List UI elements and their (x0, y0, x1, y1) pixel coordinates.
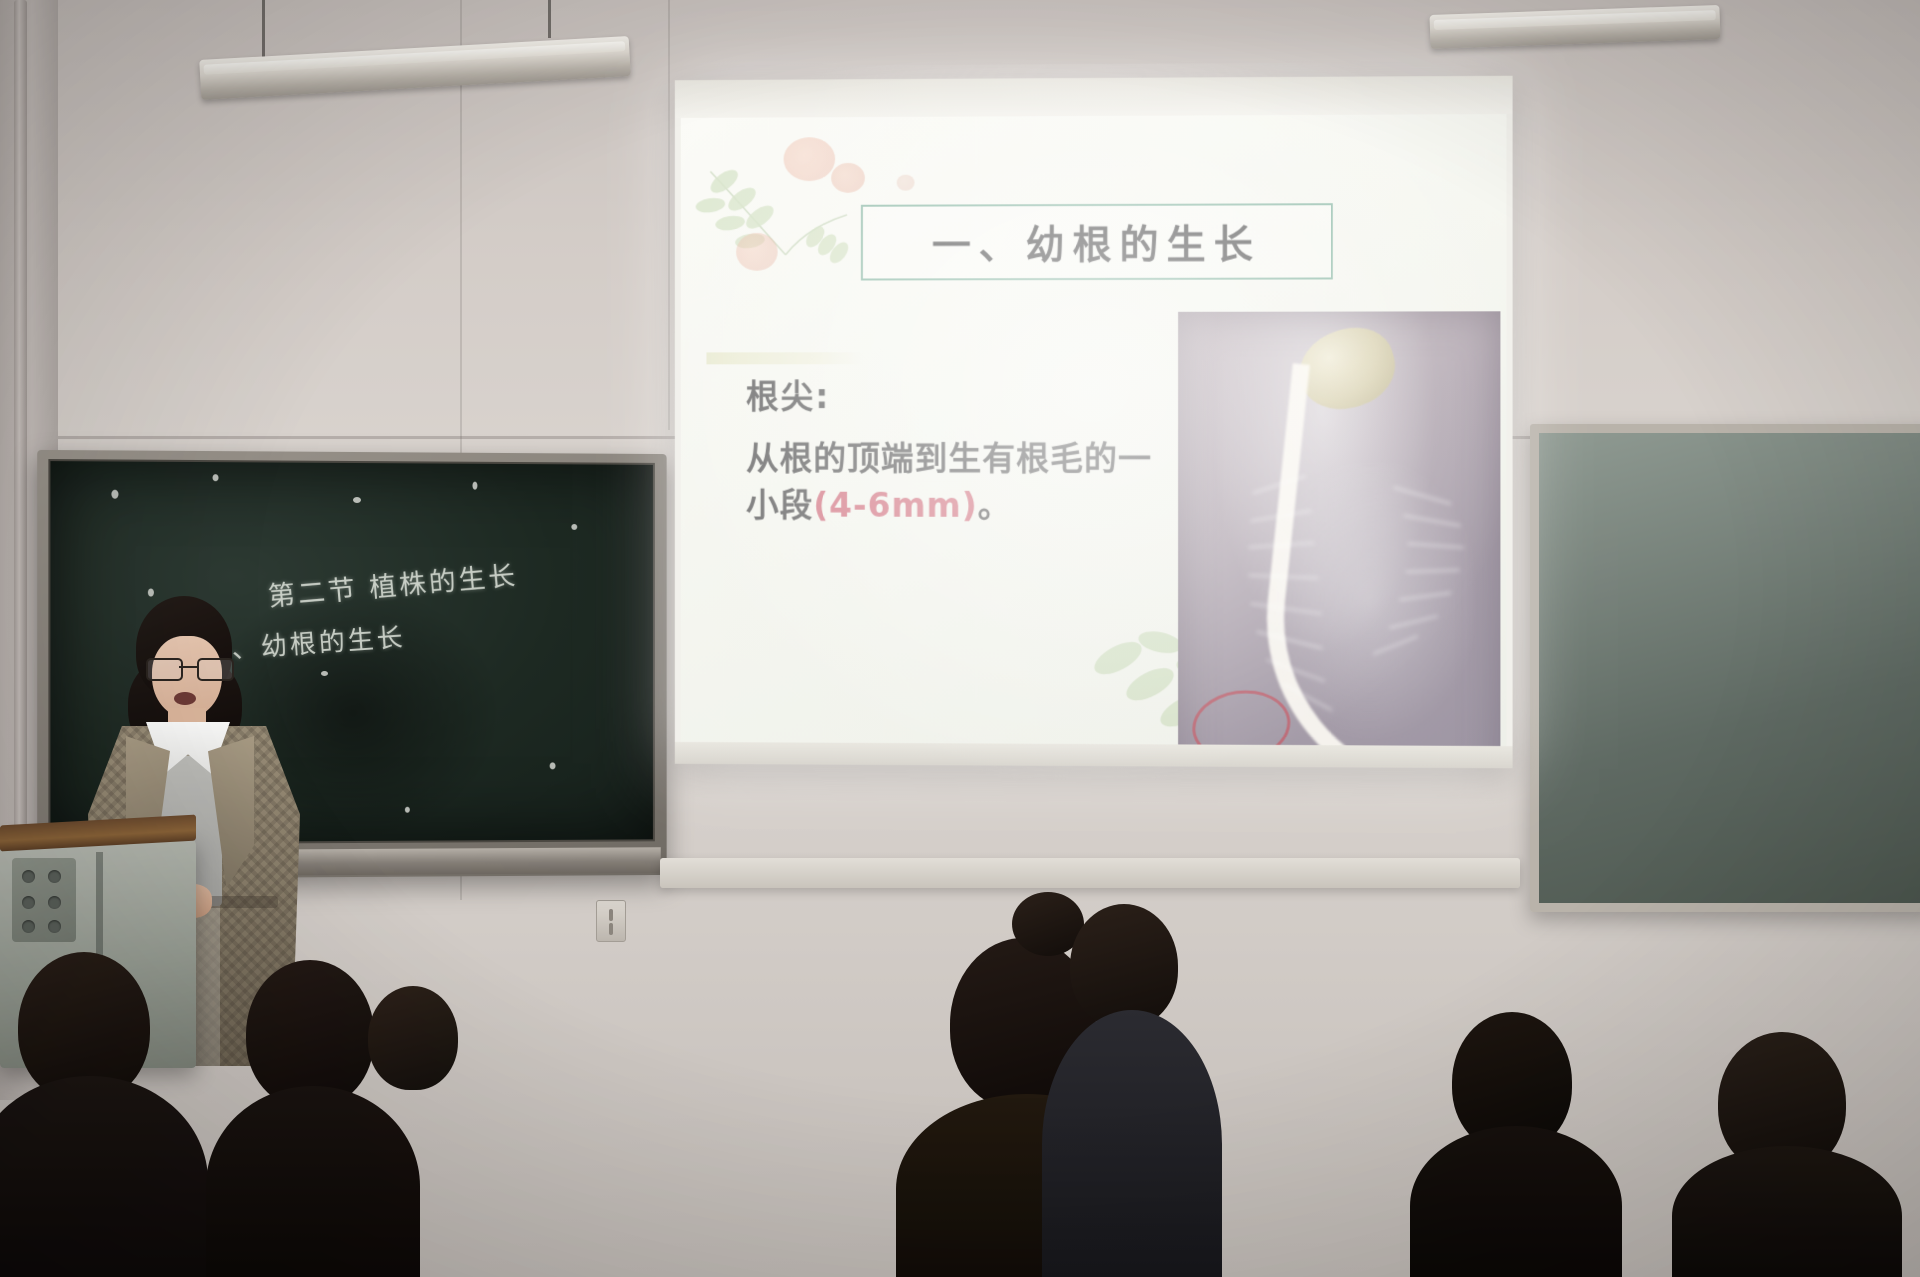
glasses-lens-right (197, 658, 234, 681)
classroom-photo: 第二节 植株的生长 一、幼根的生长 (0, 0, 1920, 1277)
screen-bottom-rail (660, 858, 1520, 888)
wall-vertical-seam-right (668, 0, 670, 430)
lamp-tube-right (1429, 5, 1720, 49)
lamp-cord-left-a (262, 0, 265, 60)
blossom-icon-c (736, 233, 778, 271)
measurement-value: (4-6mm) (813, 486, 977, 525)
student-shoulders-2 (206, 1086, 420, 1277)
screen-bottom-band (675, 742, 1513, 768)
podium-speaker-panel (12, 858, 76, 942)
projection-screen: 一、幼根的生长 根尖: 从根的顶端到生有根毛的一小段(4-6mm)。 (675, 76, 1513, 769)
screen-top-band (675, 76, 1513, 118)
student-head-3 (368, 986, 458, 1090)
slide-body-label: 根尖: (746, 370, 830, 418)
lamp-cord-left-b (548, 0, 551, 38)
socket-slot-bottom (609, 923, 613, 935)
socket-slot-top (609, 909, 613, 921)
body-line-1: 从根的顶端到生有根毛 (746, 439, 1084, 478)
yellow-accent-band (706, 352, 864, 364)
lamp-diffuser-left (203, 41, 625, 75)
blossom-icon-d (897, 175, 915, 191)
wall-mounted-board (1530, 424, 1920, 912)
teacher-mouth (174, 692, 196, 705)
slide-title: 一、幼根的生长 (863, 213, 1331, 270)
glasses-lens-left (146, 658, 183, 681)
chalk-text-line-1: 第二节 植株的生长 (266, 554, 519, 614)
blossom-icon-b (831, 163, 865, 193)
eyeglasses-icon (146, 658, 230, 677)
student-head-6 (1070, 904, 1178, 1028)
root-tip-photograph (1178, 311, 1500, 746)
glasses-bridge (179, 666, 197, 668)
presentation-slide: 一、幼根的生长 根尖: 从根的顶端到生有根毛的一小段(4-6mm)。 (681, 114, 1507, 746)
slide-body-paragraph: 从根的顶端到生有根毛的一小段(4-6mm)。 (746, 436, 1174, 530)
student-shoulders-7 (1410, 1126, 1622, 1277)
sentence-period: 。 (978, 486, 1012, 525)
slide-title-box: 一、幼根的生长 (861, 203, 1333, 280)
fluorescent-lamp-left (200, 0, 640, 140)
blossom-icon-a (784, 137, 836, 181)
wall-power-socket[interactable] (596, 900, 626, 942)
student-shoulders-6 (1042, 1010, 1222, 1277)
fluorescent-lamp-right (1430, 0, 1730, 70)
lamp-diffuser-right (1434, 10, 1716, 30)
student-shoulders-8 (1672, 1146, 1902, 1277)
